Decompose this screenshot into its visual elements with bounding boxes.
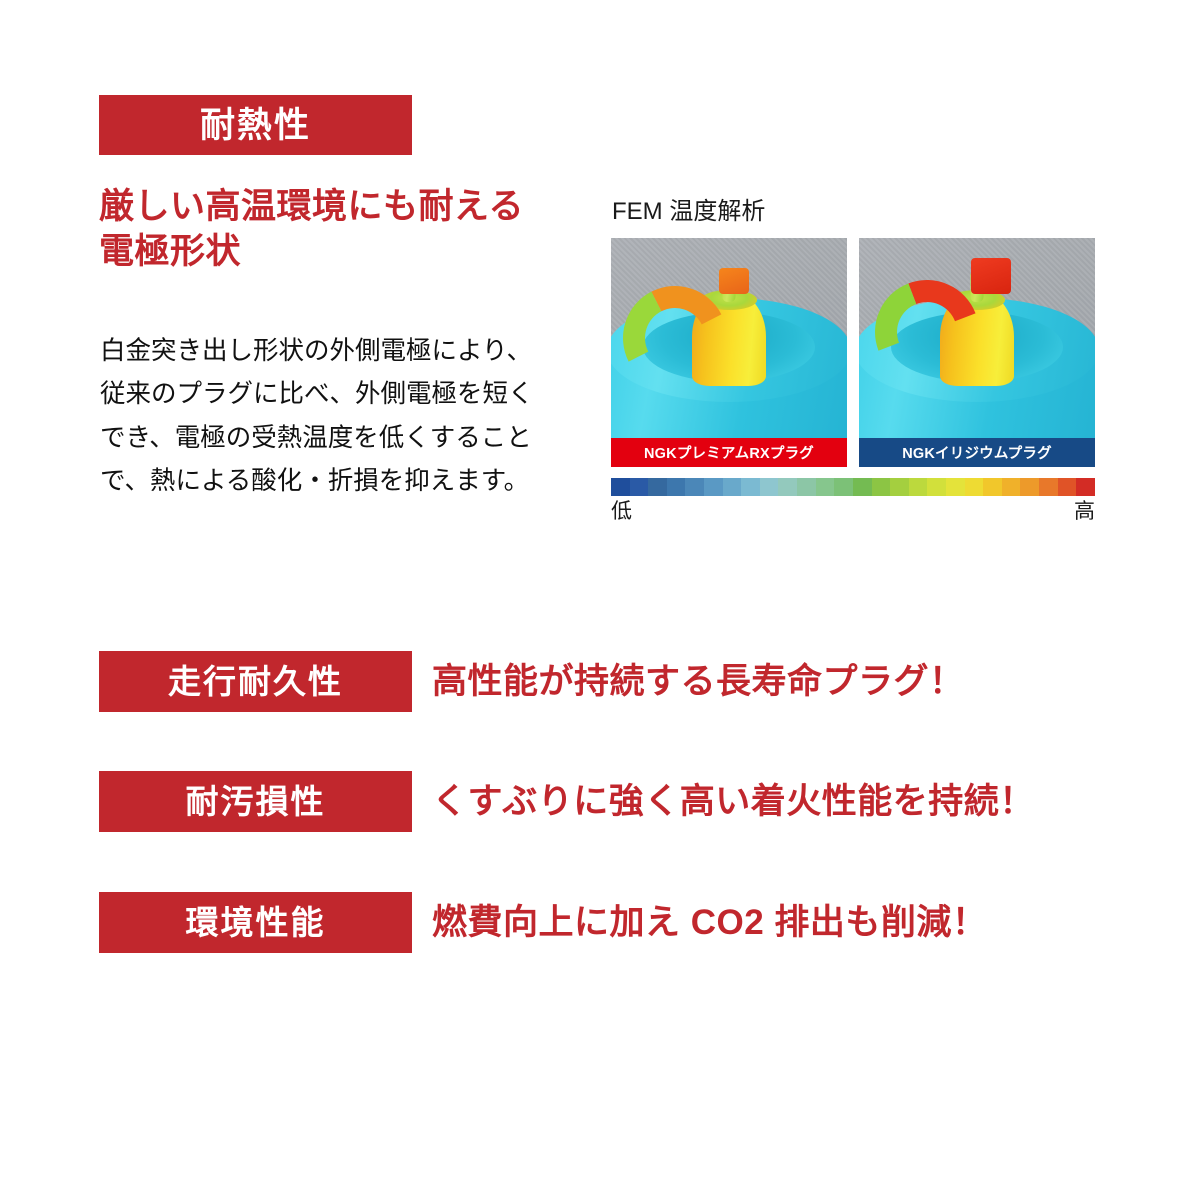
section-banner-label: 耐熱性: [200, 108, 311, 143]
scale-segment: [760, 478, 779, 496]
scale-segment: [983, 478, 1002, 496]
feature-row-durability: 走行耐久性 高性能が持続する長寿命プラグ！: [99, 651, 1059, 712]
body-line-4: で、熱による酸化・折損を抑えます。: [100, 460, 600, 503]
feature-text-durability: 高性能が持続する長寿命プラグ！: [432, 651, 965, 712]
scale-segment: [834, 478, 853, 496]
temperature-scale: 低 高: [611, 478, 1095, 523]
scale-segment: [648, 478, 667, 496]
scale-segment: [946, 478, 965, 496]
scale-segment: [1002, 478, 1021, 496]
scale-segment: [890, 478, 909, 496]
ground-electrode-tip-icon: [719, 268, 749, 294]
scale-segment: [778, 478, 797, 496]
fem-card-premium-rx: NGKプレミアムRXプラグ: [611, 238, 847, 467]
fem-analysis-panel: FEM 温度解析 NGKプレミアムRXプラグ: [611, 200, 1095, 467]
feature-text-fouling-resistance: くすぶりに強く高い着火性能を持続！: [432, 771, 1035, 832]
feature-tag-durability: 走行耐久性: [99, 651, 412, 712]
infographic-page: 耐熱性 厳しい高温環境にも耐える 電極形状 白金突き出し形状の外側電極により、 …: [0, 0, 1200, 1200]
scale-segment: [1020, 478, 1039, 496]
scale-segment: [816, 478, 835, 496]
fem-thermal-image-iridium: [859, 238, 1095, 438]
scale-segment: [872, 478, 891, 496]
feature-row-fouling-resistance: 耐汚損性 くすぶりに強く高い着火性能を持続！: [99, 771, 1059, 832]
headline-line-1: 厳しい高温環境にも耐える: [99, 185, 619, 230]
scale-segment: [927, 478, 946, 496]
temperature-scale-bar: [611, 478, 1095, 496]
feature-tag-environmental: 環境性能: [99, 892, 412, 953]
fem-thermal-image-premium-rx: [611, 238, 847, 438]
feature-tag-label: 走行耐久性: [168, 665, 343, 698]
scale-label-low: 低: [611, 500, 632, 523]
ground-electrode-tip-icon: [971, 258, 1011, 294]
scale-segment: [685, 478, 704, 496]
scale-segment: [630, 478, 649, 496]
scale-segment: [704, 478, 723, 496]
temperature-scale-labels: 低 高: [611, 500, 1095, 523]
scale-segment: [965, 478, 984, 496]
scale-segment: [723, 478, 742, 496]
scale-segment: [741, 478, 760, 496]
headline: 厳しい高温環境にも耐える 電極形状: [99, 185, 619, 275]
body-paragraph: 白金突き出し形状の外側電極により、 従来のプラグに比べ、外側電極を短く でき、電…: [100, 330, 600, 503]
scale-segment: [1058, 478, 1077, 496]
headline-line-2: 電極形状: [99, 230, 619, 275]
scale-segment: [667, 478, 686, 496]
feature-text-environmental: 燃費向上に加え CO2 排出も削減！: [432, 892, 987, 953]
feature-tag-label: 環境性能: [186, 906, 326, 939]
feature-row-environmental: 環境性能 燃費向上に加え CO2 排出も削減！: [99, 892, 1059, 953]
scale-label-high: 高: [1074, 500, 1095, 523]
scale-segment: [1076, 478, 1095, 496]
body-line-1: 白金突き出し形状の外側電極により、: [100, 330, 600, 373]
scale-segment: [797, 478, 816, 496]
fem-caption-label: NGKイリジウムプラグ: [902, 442, 1052, 463]
fem-panel-title: FEM 温度解析: [612, 200, 1095, 224]
scale-segment: [1039, 478, 1058, 496]
fem-card-row: NGKプレミアムRXプラグ NGKイリジウムプラグ: [611, 238, 1095, 467]
fem-card-iridium: NGKイリジウムプラグ: [859, 238, 1095, 467]
feature-tag-fouling-resistance: 耐汚損性: [99, 771, 412, 832]
scale-segment: [909, 478, 928, 496]
section-banner-heat-resistance: 耐熱性: [99, 95, 412, 155]
body-line-2: 従来のプラグに比べ、外側電極を短く: [100, 373, 600, 416]
feature-tag-label: 耐汚損性: [186, 785, 326, 818]
scale-segment: [611, 478, 630, 496]
scale-segment: [853, 478, 872, 496]
fem-caption-label: NGKプレミアムRXプラグ: [644, 442, 814, 463]
fem-caption-premium-rx: NGKプレミアムRXプラグ: [611, 438, 847, 467]
body-line-3: でき、電極の受熱温度を低くすること: [100, 417, 600, 460]
fem-caption-iridium: NGKイリジウムプラグ: [859, 438, 1095, 467]
